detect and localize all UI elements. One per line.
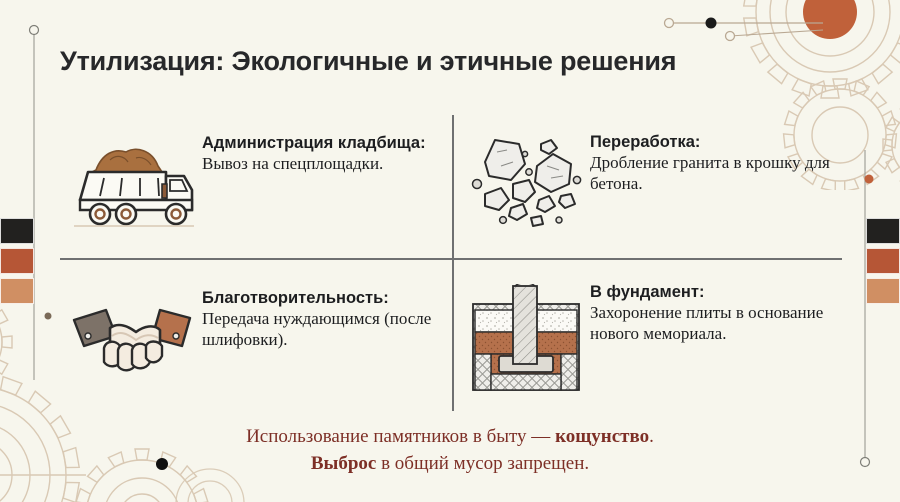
color-swatch-stack-right [866,218,900,304]
item-body: Дробление гранита в крошку для бетона. [590,153,830,193]
color-swatch-stack-left [0,218,34,304]
swatch-dark [866,218,900,244]
swatch-terracotta [866,248,900,274]
footer-warning: Использование памятников в быту — кощунс… [0,424,900,477]
footer-line1-emphasis: кощунство [555,426,649,447]
item-lead: Благотворительность: [202,289,389,307]
item-charity: Благотворительность: Передача нуждающимс… [62,288,442,388]
item-body: Передача нуждающимся (после шлифовки). [202,309,431,349]
item-recycling: Переработка: Дробление гранита в крошку … [462,132,842,232]
swatch-tan [866,278,900,304]
footer-line2: Выброс в общий мусор запрещен. [0,451,900,478]
footer-line1-c: . [649,426,654,447]
footer-line2-emphasis: Выброс [311,453,377,474]
item-body: Вывоз на спецплощадки. [202,154,383,173]
item-body: Захоронение плиты в основание нового мем… [590,303,823,343]
item-foundation: В фундамент: Захоронение плиты в основан… [462,282,842,396]
item-lead: Администрация кладбища: [202,134,426,152]
slide-canvas: Утилизация: Экологичные и этичные решени… [0,0,900,502]
vertical-divider [452,115,454,411]
swatch-dark [0,218,34,244]
footer-line2-rest: в общий мусор запрещен. [376,453,589,474]
crushed-stone-icon [462,132,590,232]
swatch-terracotta [0,248,34,274]
pin-line-top-left [26,22,42,382]
foundation-section-icon [462,282,590,396]
accent-dot-right [862,172,876,186]
item-lead: В фундамент: [590,283,704,301]
item-text: Благотворительность: Передача нуждающимс… [202,288,442,351]
horizontal-divider [60,258,842,260]
handshake-icon [62,288,202,388]
pin-line-bottom-right [857,150,873,470]
footer-line1-a: Использование памятников в быту — [246,426,555,447]
item-text: Администрация кладбища: Вывоз на спецпло… [202,132,442,175]
item-lead: Переработка: [590,133,700,151]
swatch-tan [0,278,34,304]
item-text: Переработка: Дробление гранита в крошку … [590,132,842,195]
page-title: Утилизация: Экологичные и этичные решени… [60,46,676,77]
dump-truck-icon [62,132,202,232]
connector-line-top [645,8,825,44]
item-text: В фундамент: Захоронение плиты в основан… [590,282,842,345]
item-administration: Администрация кладбища: Вывоз на спецпло… [62,132,442,232]
